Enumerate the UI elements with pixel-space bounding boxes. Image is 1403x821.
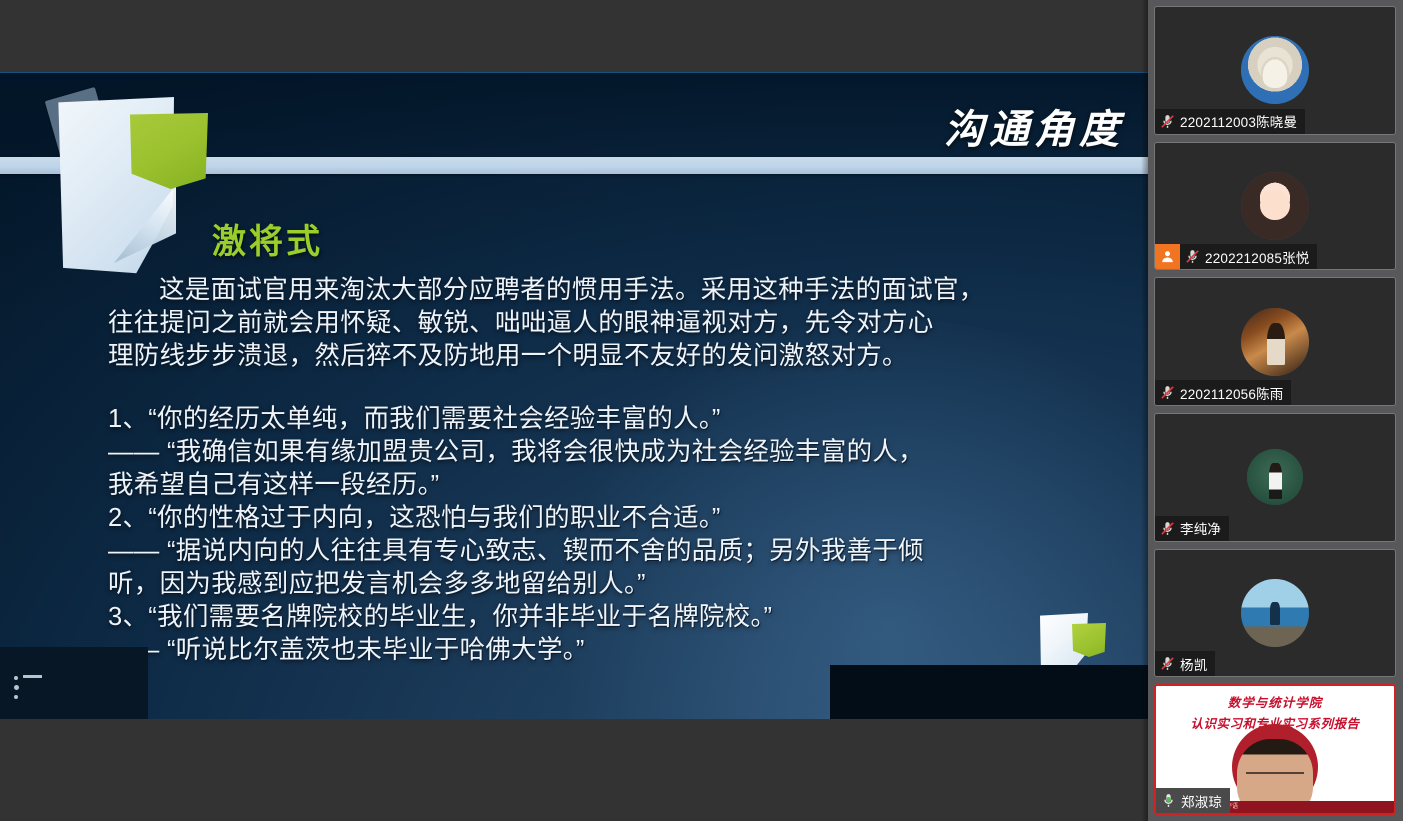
mic-on-icon — [1156, 792, 1181, 809]
glasses-shape — [1246, 772, 1304, 782]
slide-intro-paragraph: 这是面试官用来淘汰大部分应聘者的惯用手法。采用这种手法的面试官， 往往提问之前就… — [108, 274, 1068, 373]
participant-name: 2202112003陈晓曼 — [1180, 111, 1297, 131]
mic-muted-icon — [1155, 520, 1180, 537]
participant-name-badge: 郑淑琼 — [1156, 788, 1230, 813]
slide-intro-line: 往往提问之前就会用怀疑、敏锐、咄咄逼人的眼神逼视对方，先令对方心 — [108, 307, 1068, 340]
sticky-note-shape — [1072, 623, 1106, 657]
avatar-image — [1247, 449, 1303, 505]
slide-intro-line: 这是面试官用来淘汰大部分应聘者的惯用手法。采用这种手法的面试官， — [108, 274, 1068, 307]
presentation-slide[interactable]: 沟通角度 激将式 这是面试官用来淘汰大部分应聘者的惯用手法。采用这种手法的面试官… — [0, 72, 1148, 719]
participant-tile[interactable]: 2202112003陈晓曼 — [1154, 6, 1396, 135]
participant-name: 李纯净 — [1180, 518, 1221, 538]
slide-example-line: 我希望自己有这样一段经历。” — [108, 469, 1068, 502]
slide-example-line: —— “听说比尔盖茨也未毕业于哈佛大学。” — [108, 634, 1068, 667]
participant-name-badge: 2202212085张悦 — [1155, 244, 1317, 269]
avatar-image — [1241, 172, 1309, 240]
share-area-edge-shadow — [1141, 0, 1148, 821]
participant-name-badge: 2202112003陈晓曼 — [1155, 109, 1305, 134]
avatar-image — [1241, 579, 1309, 647]
mic-muted-icon — [1180, 248, 1205, 265]
paragraph-spacer — [108, 373, 1068, 403]
participant-tile[interactable]: 2202112056陈雨 — [1154, 277, 1396, 406]
participant-name-badge: 杨凯 — [1155, 651, 1215, 676]
avatar-image — [1241, 308, 1309, 376]
list-view-icon[interactable] — [12, 675, 42, 701]
slide-example-line: —— “据说内向的人往往具有专心致志、锲而不舍的品质；另外我善于倾 — [108, 535, 1068, 568]
avatar — [1241, 579, 1309, 647]
slide-example-line: —— “我确信如果有缘加盟贵公司，我将会很快成为社会经验丰富的人， — [108, 436, 1068, 469]
participant-name: 2202112056陈雨 — [1180, 383, 1283, 403]
participant-tile[interactable]: 2202212085张悦 — [1154, 142, 1396, 271]
slide-examples-paragraph: 1、“你的经历太单纯，而我们需要社会经验丰富的人。” —— “我确信如果有缘加盟… — [108, 403, 1068, 667]
avatar-image — [1241, 36, 1309, 104]
host-person-icon — [1155, 244, 1180, 269]
slide-bottom-right-overlay — [830, 665, 1148, 719]
avatar — [1241, 308, 1309, 376]
participant-name: 2202212085张悦 — [1205, 247, 1309, 267]
slide-example-line: 2、“你的性格过于内向，这恐怕与我们的职业不合适。” — [108, 502, 1068, 535]
shared-screen-area[interactable]: 沟通角度 激将式 这是面试官用来淘汰大部分应聘者的惯用手法。采用这种手法的面试官… — [0, 0, 1148, 821]
slide-header-title: 沟通角度 — [944, 97, 1124, 155]
poster-line-1: 数学与统计学院 — [1228, 692, 1323, 711]
slide-example-line: 3、“我们需要名牌院校的毕业生，你并非毕业于名牌院校。” — [108, 601, 1068, 634]
participant-tile[interactable]: 李纯净 — [1154, 413, 1396, 542]
participant-tile[interactable]: 杨凯 — [1154, 549, 1396, 678]
mic-muted-icon — [1155, 113, 1180, 130]
paper-sticky-decoration — [38, 89, 218, 279]
participant-name: 杨凯 — [1180, 654, 1207, 674]
slide-title: 激将式 — [212, 214, 323, 263]
avatar — [1241, 36, 1309, 104]
slide-example-line: 听，因为我感到应把发言机会多多地留给别人。” — [108, 568, 1068, 601]
slide-example-line: 1、“你的经历太单纯，而我们需要社会经验丰富的人。” — [108, 403, 1068, 436]
meeting-screen: 沟通角度 激将式 这是面试官用来淘汰大部分应聘者的惯用手法。采用这种手法的面试官… — [0, 0, 1403, 821]
participant-filmstrip[interactable]: 2202112003陈晓曼 2202212085张悦 — [1148, 0, 1403, 821]
participant-name-badge: 李纯净 — [1155, 516, 1229, 541]
mic-muted-icon — [1155, 384, 1180, 401]
slide-intro-line: 理防线步步溃退，然后猝不及防地用一个明显不友好的发问激怒对方。 — [108, 340, 1068, 373]
slide-body-text: 这是面试官用来淘汰大部分应聘者的惯用手法。采用这种手法的面试官， 往往提问之前就… — [108, 274, 1068, 667]
avatar — [1241, 172, 1309, 240]
avatar — [1247, 449, 1303, 505]
participant-name: 郑淑琼 — [1181, 791, 1222, 811]
participant-tile-active-speaker[interactable]: 数学与统计学院 认识实习和专业实习系列报告 评优备及颁评语 郑淑琼 — [1154, 684, 1396, 815]
sticky-note-shape — [130, 113, 208, 189]
participant-name-badge: 2202112056陈雨 — [1155, 380, 1291, 405]
mic-muted-icon — [1155, 655, 1180, 672]
